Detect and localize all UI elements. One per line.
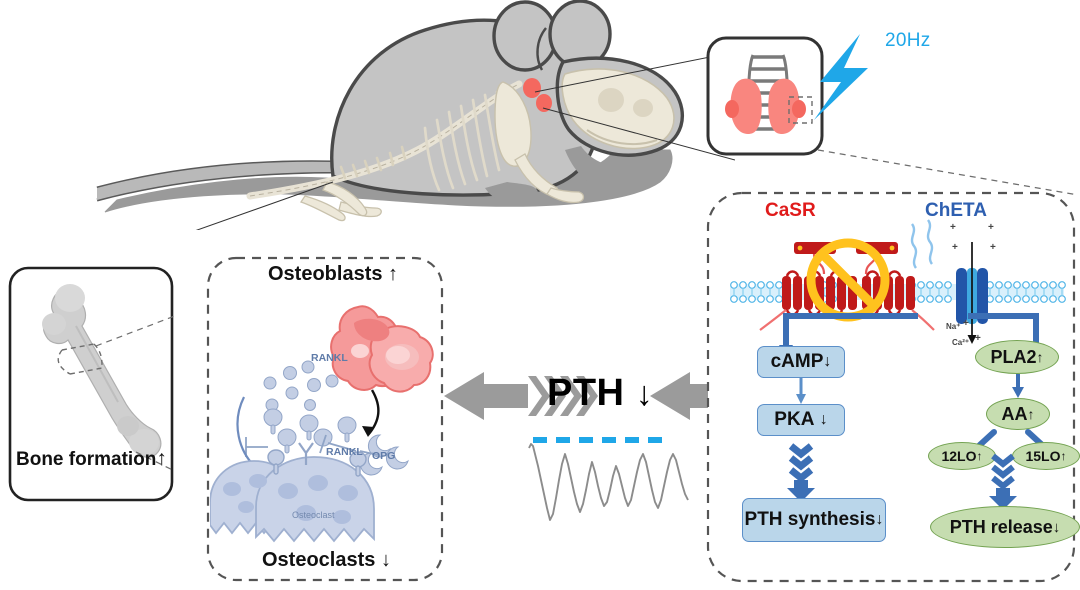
- pka-to-synthesis-arrow: [783, 440, 819, 502]
- light-wave-icon: [912, 220, 932, 268]
- node-pth-release[interactable]: PTH release↓: [930, 506, 1080, 548]
- osteoclast-cells: [210, 457, 374, 541]
- node-camp[interactable]: cAMP↓: [757, 346, 845, 378]
- svg-text:+: +: [988, 222, 994, 233]
- rankl-label-bottom: RANKL: [326, 446, 363, 458]
- node-15lo[interactable]: 15LO↑: [1012, 442, 1080, 470]
- osteoblasts-label: Osteoblasts: [268, 263, 382, 285]
- stimulation-frequency-label: 20Hz: [885, 30, 931, 52]
- pth-arrow: ↓: [636, 375, 654, 413]
- mouse-illustration: [95, 0, 735, 230]
- svg-text:+: +: [950, 222, 956, 233]
- node-pla2[interactable]: PLA2↑: [975, 340, 1059, 374]
- pla2-to-aa-arrow: [1007, 374, 1029, 400]
- node-pka[interactable]: PKA ↓: [757, 404, 845, 436]
- bone-formation-arrow: ↑: [156, 447, 167, 470]
- figure-canvas: 20Hz Bone formation↑: [0, 0, 1080, 590]
- svg-text:+: +: [952, 242, 958, 253]
- osteoclast-label: Osteoclast: [292, 510, 335, 520]
- osteoclasts-arrow: ↓: [381, 549, 391, 571]
- pth-label: PTH: [547, 372, 625, 414]
- parathyroid-highlight: [523, 78, 541, 98]
- osteoblasts-arrow: ↑: [388, 263, 398, 285]
- lo-to-release-arrow: [985, 452, 1021, 510]
- node-pth-synthesis[interactable]: PTH synthesis↓: [742, 498, 886, 542]
- svg-text:+: +: [990, 242, 996, 253]
- bone-cell-diagram: [210, 285, 442, 547]
- pth-waveform-chart: [525, 432, 695, 527]
- osteoclasts-label: Osteoclasts: [262, 549, 375, 571]
- rankl-label-top: RANKL: [311, 352, 348, 364]
- opg-label: OPG: [372, 450, 395, 462]
- node-aa[interactable]: AA↑: [986, 398, 1050, 430]
- camp-to-pka-arrow: [790, 378, 812, 406]
- bone-formation-label: Bone formation: [16, 449, 156, 470]
- osteoblast-cells: [331, 306, 433, 391]
